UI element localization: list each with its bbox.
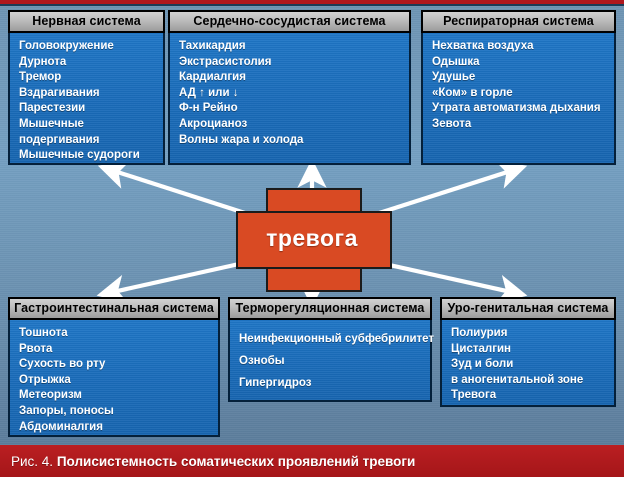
list-item: Вздрагивания [19,86,163,102]
list-item: Тахикардия [179,39,409,55]
list-item: Парестезии [19,101,163,117]
list-item: Ознобы [239,350,430,372]
list-item: Утрата автоматизма дыхания [432,101,614,117]
list-item: Неинфекционный субфебрилитет [239,328,430,350]
list-item: Метеоризм [19,388,218,404]
list-item: Мышечные [19,117,163,133]
list-item: Акроцианоз [179,117,409,133]
list-item: Зевота [432,117,614,133]
system-box-cardiovascular-body: Тахикардия Экстрасистолия Кардиалгия АД … [168,33,411,165]
list-item: Тошнота [19,326,218,342]
list-item: Ф-н Рейно [179,101,409,117]
list-item: Тремор [19,70,163,86]
figure-caption-title: Полисистемность соматических проявлений … [57,454,415,469]
list-item: Кардиалгия [179,70,409,86]
list-item: Удушье [432,70,614,86]
list-item: Головокружение [19,39,163,55]
top-dark-divider [0,4,624,6]
list-item: «Ком» в горле [432,86,614,102]
figure-caption: Рис. 4. Полисистемность соматических про… [0,454,415,469]
system-box-nervous-body: Головокружение Дурнота Тремор Вздрагиван… [8,33,165,165]
figure-caption-bar: Рис. 4. Полисистемность соматических про… [0,445,624,477]
list-item: АД ↑ или ↓ [179,86,409,102]
anxiety-somatic-symptoms-figure: Нервная система Головокружение Дурнота Т… [0,0,624,477]
list-item: Цисталгин [451,342,614,358]
system-box-urogenital-body: Полиурия Цисталгин Зуд и боли в аногенит… [440,320,616,407]
figure-caption-number: Рис. 4. [11,454,53,469]
system-box-thermoregulation-title: Терморегуляционная система [228,297,432,320]
list-item: Полиурия [451,326,614,342]
system-box-respiratory: Респираторная система Нехватка воздуха О… [421,10,616,165]
system-box-gastrointestinal-body: Тошнота Рвота Сухость во рту Отрыжка Мет… [8,320,220,437]
list-item: Отрыжка [19,373,218,389]
list-item: Запоры, поносы [19,404,218,420]
list-item: Абдоминалгия [19,420,218,436]
list-item: подергивания [19,133,163,149]
system-box-respiratory-title: Респираторная система [421,10,616,33]
list-item: в аногенитальной зоне [451,373,614,389]
system-box-gastrointestinal-title: Гастроинтестинальная система [8,297,220,320]
system-box-cardiovascular: Сердечно-сосудистая система Тахикардия Э… [168,10,411,165]
list-item: Дурнота [19,55,163,71]
system-box-cardiovascular-title: Сердечно-сосудистая система [168,10,411,33]
list-item: Рвота [19,342,218,358]
system-box-gastrointestinal: Гастроинтестинальная система Тошнота Рво… [8,297,220,437]
list-item: Сухость во рту [19,357,218,373]
system-box-urogenital: Уро-генитальная система Полиурия Цисталг… [440,297,616,407]
center-anxiety-label: тревога [236,188,388,288]
list-item: Гипергидроз [239,372,430,394]
center-anxiety-node: тревога [236,188,388,288]
system-box-nervous: Нервная система Головокружение Дурнота Т… [8,10,165,165]
system-box-respiratory-body: Нехватка воздуха Одышка Удушье «Ком» в г… [421,33,616,165]
system-box-thermoregulation: Терморегуляционная система Неинфекционны… [228,297,432,402]
list-item: Зуд и боли [451,357,614,373]
list-item: Нехватка воздуха [432,39,614,55]
system-box-urogenital-title: Уро-генитальная система [440,297,616,320]
list-item: Волны жара и холода [179,133,409,149]
system-box-thermoregulation-body: Неинфекционный субфебрилитет Ознобы Гипе… [228,320,432,402]
list-item: Мышечные судороги [19,148,163,164]
list-item: Одышка [432,55,614,71]
list-item: Экстрасистолия [179,55,409,71]
system-box-nervous-title: Нервная система [8,10,165,33]
list-item: Тревога [451,388,614,404]
